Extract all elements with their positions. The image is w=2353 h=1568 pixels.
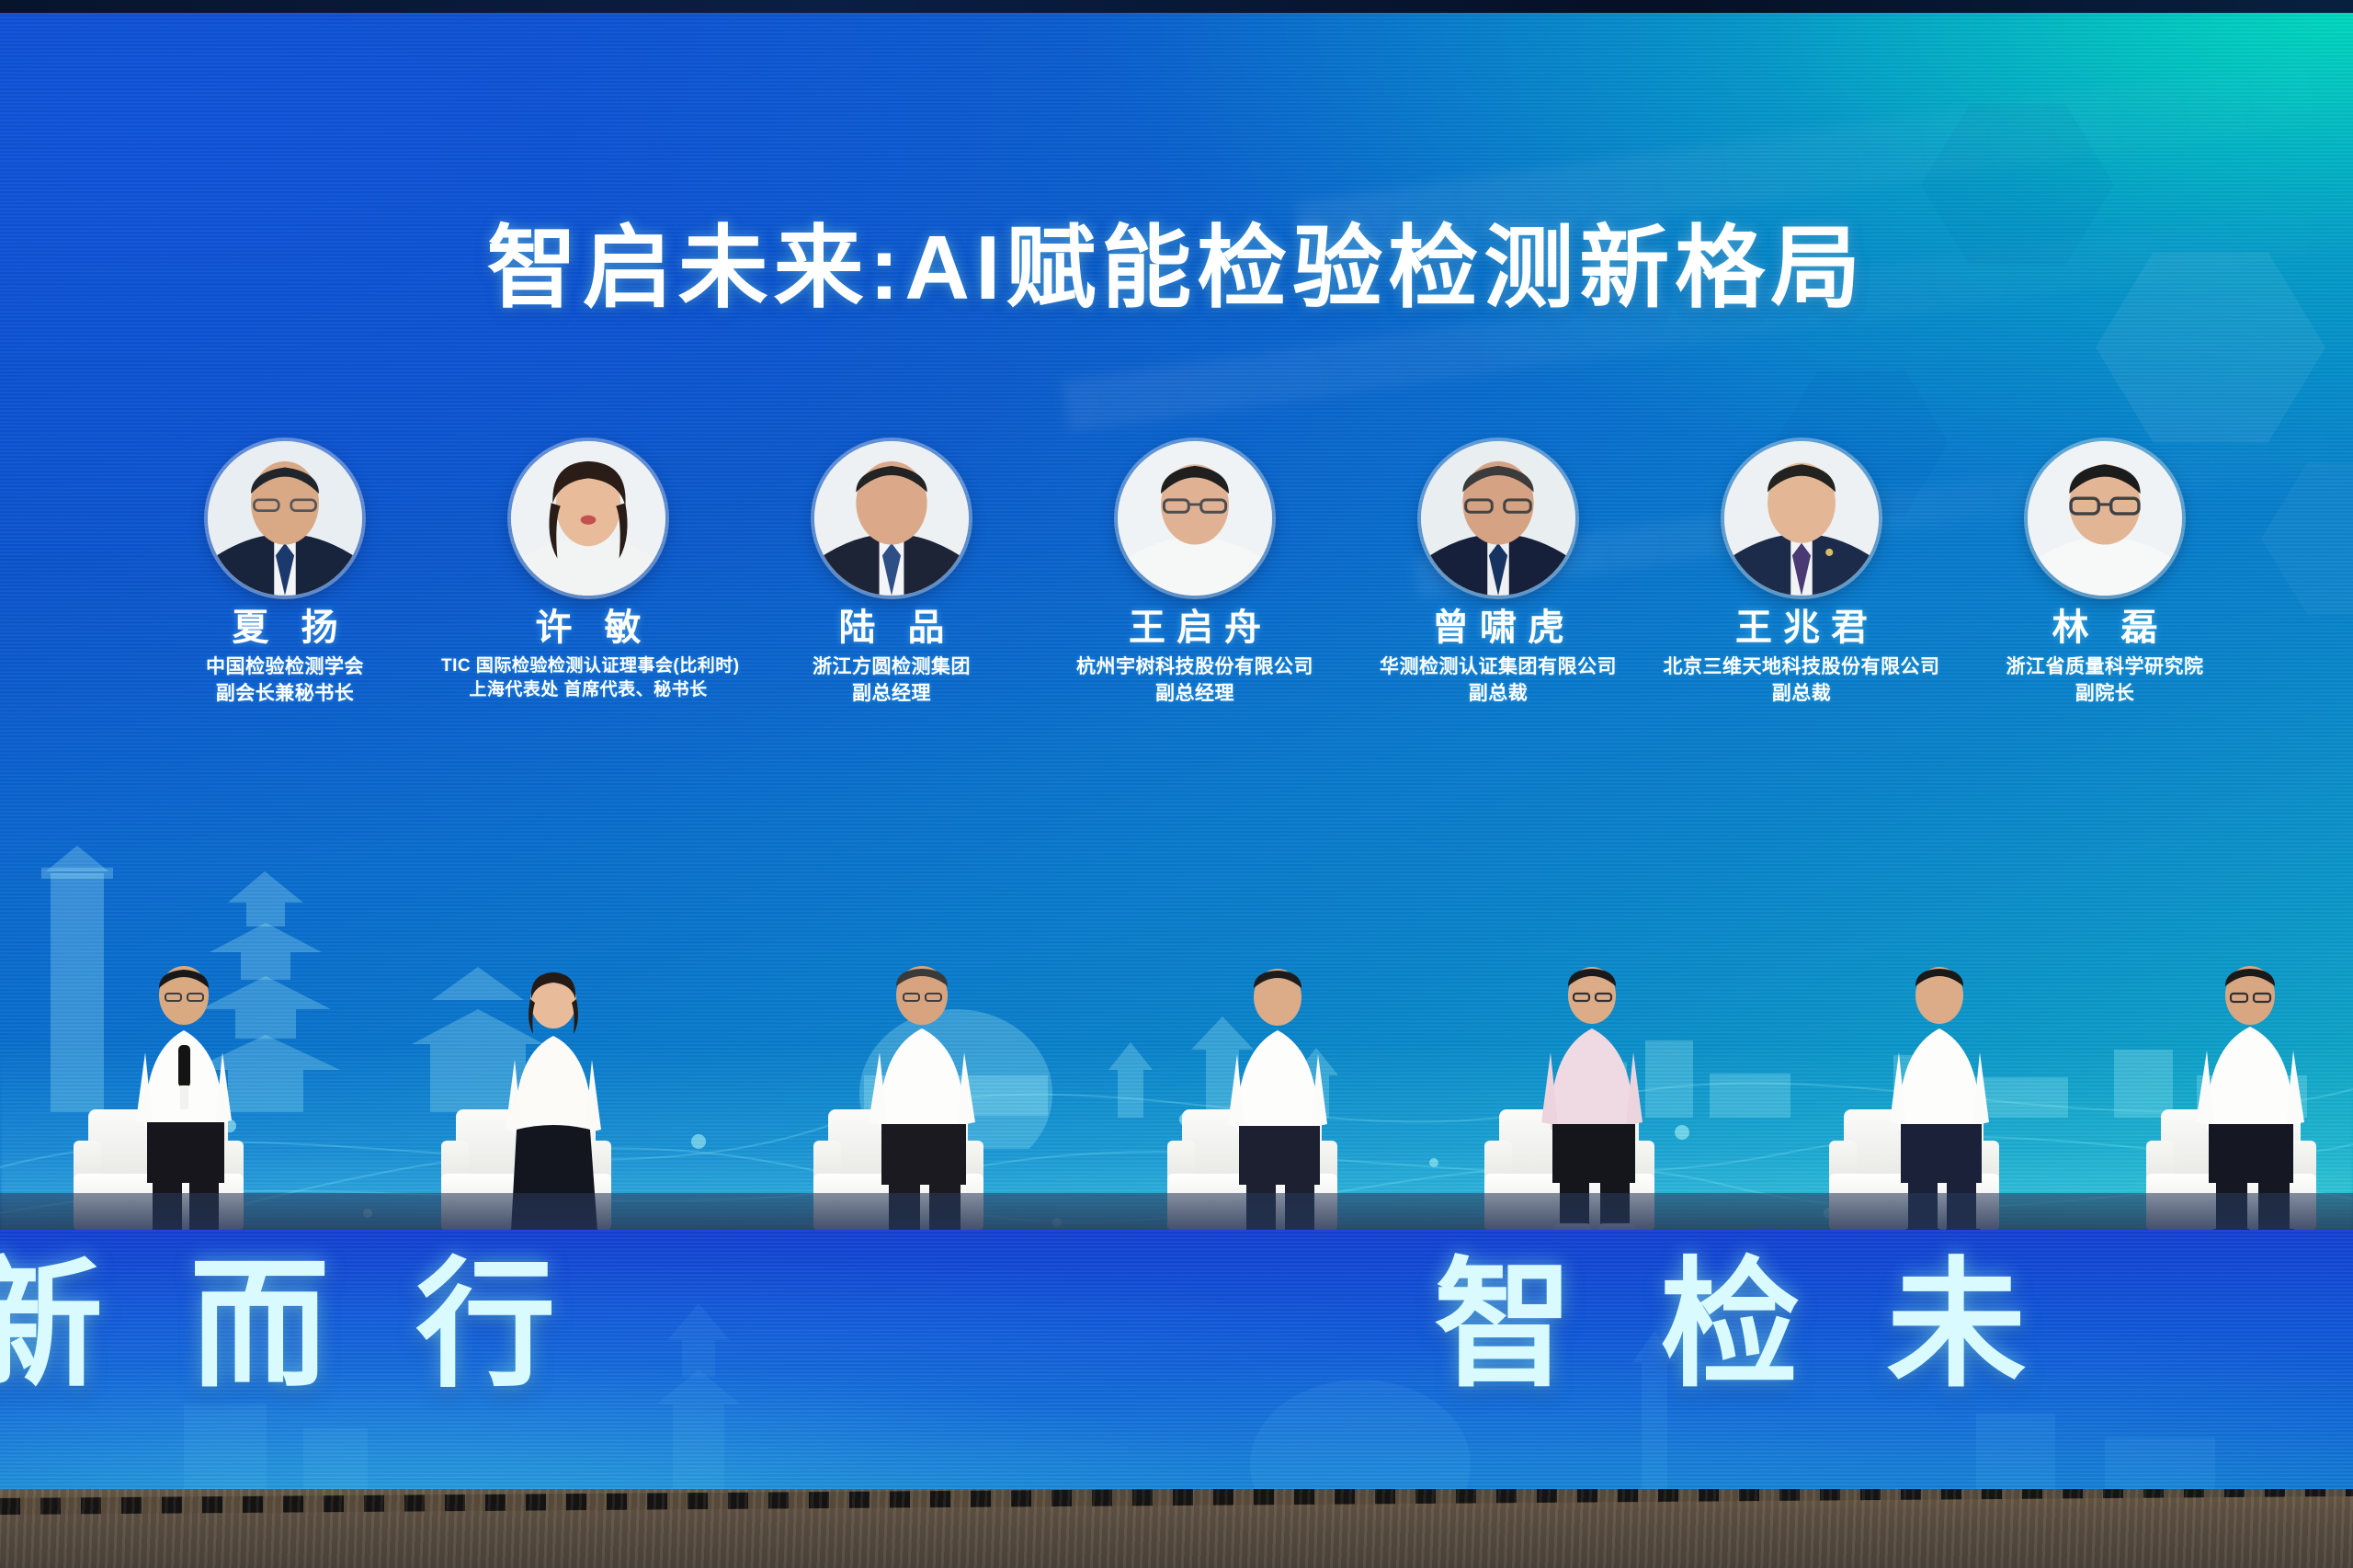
panelist-role: 副会长兼秘书长 [138, 681, 432, 708]
panelist-card: 陆 品 浙江方圆检测集团 副总经理 [745, 441, 1039, 708]
panelist-card: 王兆君 北京三维天地科技股份有限公司 副总裁 [1654, 441, 1949, 708]
panelist-card: 许 敏 TIC 国际检验检测认证理事会(比利时) 上海代表处 首席代表、秘书长 [441, 441, 735, 702]
panelist-role: 副总裁 [1351, 681, 1645, 708]
ceiling-strip [0, 0, 2353, 13]
panelist-card: 夏 扬 中国检验检测学会 副会长兼秘书长 [138, 441, 432, 708]
avatar [208, 441, 362, 596]
avatar [1421, 441, 1575, 596]
portrait-photo-icon [2028, 441, 2182, 596]
panelist-role: 副总经理 [745, 681, 1039, 708]
panelist-organization: 浙江省质量科学研究院 [1958, 654, 2252, 681]
bottom-led-banner: 新 而 行 智 检 未 [0, 1230, 2353, 1496]
panelist-role: 副总裁 [1654, 681, 1949, 708]
panelist-organization: 浙江方圆检测集团 [745, 654, 1039, 681]
panelist-organization: TIC 国际检验检测认证理事会(比利时) [441, 654, 735, 678]
portrait-photo-icon [814, 441, 969, 596]
portrait-photo-icon [1118, 441, 1272, 596]
panelist-role: 上海代表处 首席代表、秘书长 [441, 678, 735, 702]
stage-floor [0, 1489, 2353, 1568]
banner-text-left: 新 而 行 [0, 1256, 579, 1395]
panelist-card: 王启舟 杭州宇树科技股份有限公司 副总经理 [1048, 441, 1342, 708]
avatar [814, 441, 969, 596]
panelist-name: 林 磊 [1958, 607, 2252, 649]
stage-carpet [0, 1193, 2353, 1233]
panelist-card: 曾啸虎 华测检测认证集团有限公司 副总裁 [1351, 441, 1645, 708]
panelist-name: 陆 品 [745, 607, 1039, 649]
conference-stage-photo: 智启未来:AI赋能检验检测新格局 夏 扬 [0, 0, 2353, 1568]
banner-text-right: 智 检 未 [1434, 1256, 2050, 1395]
portrait-photo-icon [1421, 441, 1575, 596]
panelist-organization: 华测检测认证集团有限公司 [1351, 654, 1645, 681]
avatar [511, 441, 665, 596]
portrait-photo-icon [208, 441, 362, 596]
panelist-organization: 杭州宇树科技股份有限公司 [1048, 654, 1342, 681]
panelist-role: 副院长 [1958, 681, 2252, 708]
microphone-icon [178, 1045, 190, 1087]
panelist-name: 夏 扬 [138, 607, 432, 649]
panelist-card: 林 磊 浙江省质量科学研究院 副院长 [1958, 441, 2252, 708]
panelist-role: 副总经理 [1048, 681, 1342, 708]
panelist-name: 曾啸虎 [1351, 607, 1645, 649]
hexagon-shape [2261, 460, 2353, 618]
avatar [1118, 441, 1272, 596]
panelist-name: 许 敏 [441, 607, 735, 649]
panelist-card-row: 夏 扬 中国检验检测学会 副会长兼秘书长 许 敏 [138, 441, 2252, 708]
portrait-photo-icon [1724, 441, 1879, 596]
session-title: 智启未来:AI赋能检验检测新格局 [0, 222, 2353, 312]
panelist-name: 王启舟 [1048, 607, 1342, 649]
avatar [2028, 441, 2182, 596]
panelist-organization: 中国检验检测学会 [138, 654, 432, 681]
panelist-name: 王兆君 [1654, 607, 1949, 649]
panelist-organization: 北京三维天地科技股份有限公司 [1654, 654, 1949, 681]
portrait-photo-icon [511, 441, 665, 596]
avatar [1724, 441, 1879, 596]
